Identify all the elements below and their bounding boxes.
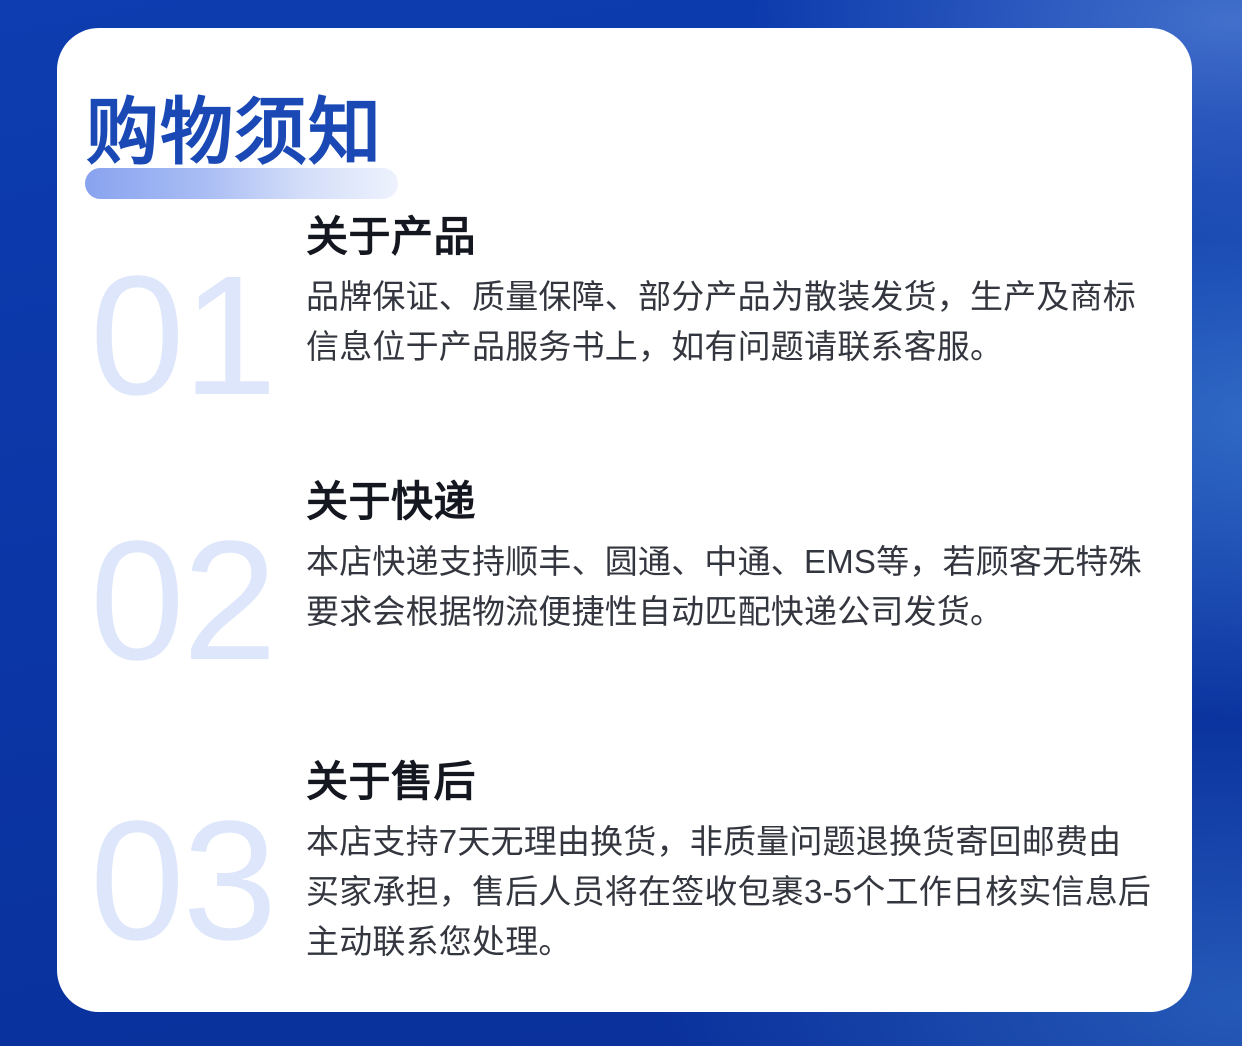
section-number-02: 02	[90, 516, 300, 686]
section-body-1: 关于产品 品牌保证、质量保障、部分产品为散装发货，生产及商标信息位于产品服务书上…	[306, 213, 1152, 372]
section-text-shipping: 本店快递支持顺丰、圆通、中通、EMS等，若顾客无特殊要求会根据物流便捷性自动匹配…	[306, 537, 1152, 637]
section-heading-product: 关于产品	[306, 213, 1152, 260]
section-text-aftersales: 本店支持7天无理由换货，非质量问题退换货寄回邮费由买家承担，售后人员将在签收包裹…	[306, 817, 1152, 967]
page-title-group: 购物须知	[85, 68, 382, 198]
shopping-notice-poster: 购物须知 01 关于产品 品牌保证、质量保障、部分产品为散装发货，生产及商标信息…	[0, 0, 1242, 1046]
section-heading-aftersales: 关于售后	[306, 758, 1152, 805]
section-number-03: 03	[90, 796, 300, 966]
page-title: 购物须知	[85, 68, 382, 169]
section-body-3: 关于售后 本店支持7天无理由换货，非质量问题退换货寄回邮费由买家承担，售后人员将…	[306, 758, 1152, 968]
section-body-2: 关于快递 本店快递支持顺丰、圆通、中通、EMS等，若顾客无特殊要求会根据物流便捷…	[306, 478, 1152, 637]
content-card: 购物须知 01 关于产品 品牌保证、质量保障、部分产品为散装发货，生产及商标信息…	[57, 28, 1192, 1012]
section-text-product: 品牌保证、质量保障、部分产品为散装发货，生产及商标信息位于产品服务书上，如有问题…	[306, 272, 1152, 372]
section-number-01: 01	[90, 251, 300, 421]
section-heading-shipping: 关于快递	[306, 478, 1152, 525]
